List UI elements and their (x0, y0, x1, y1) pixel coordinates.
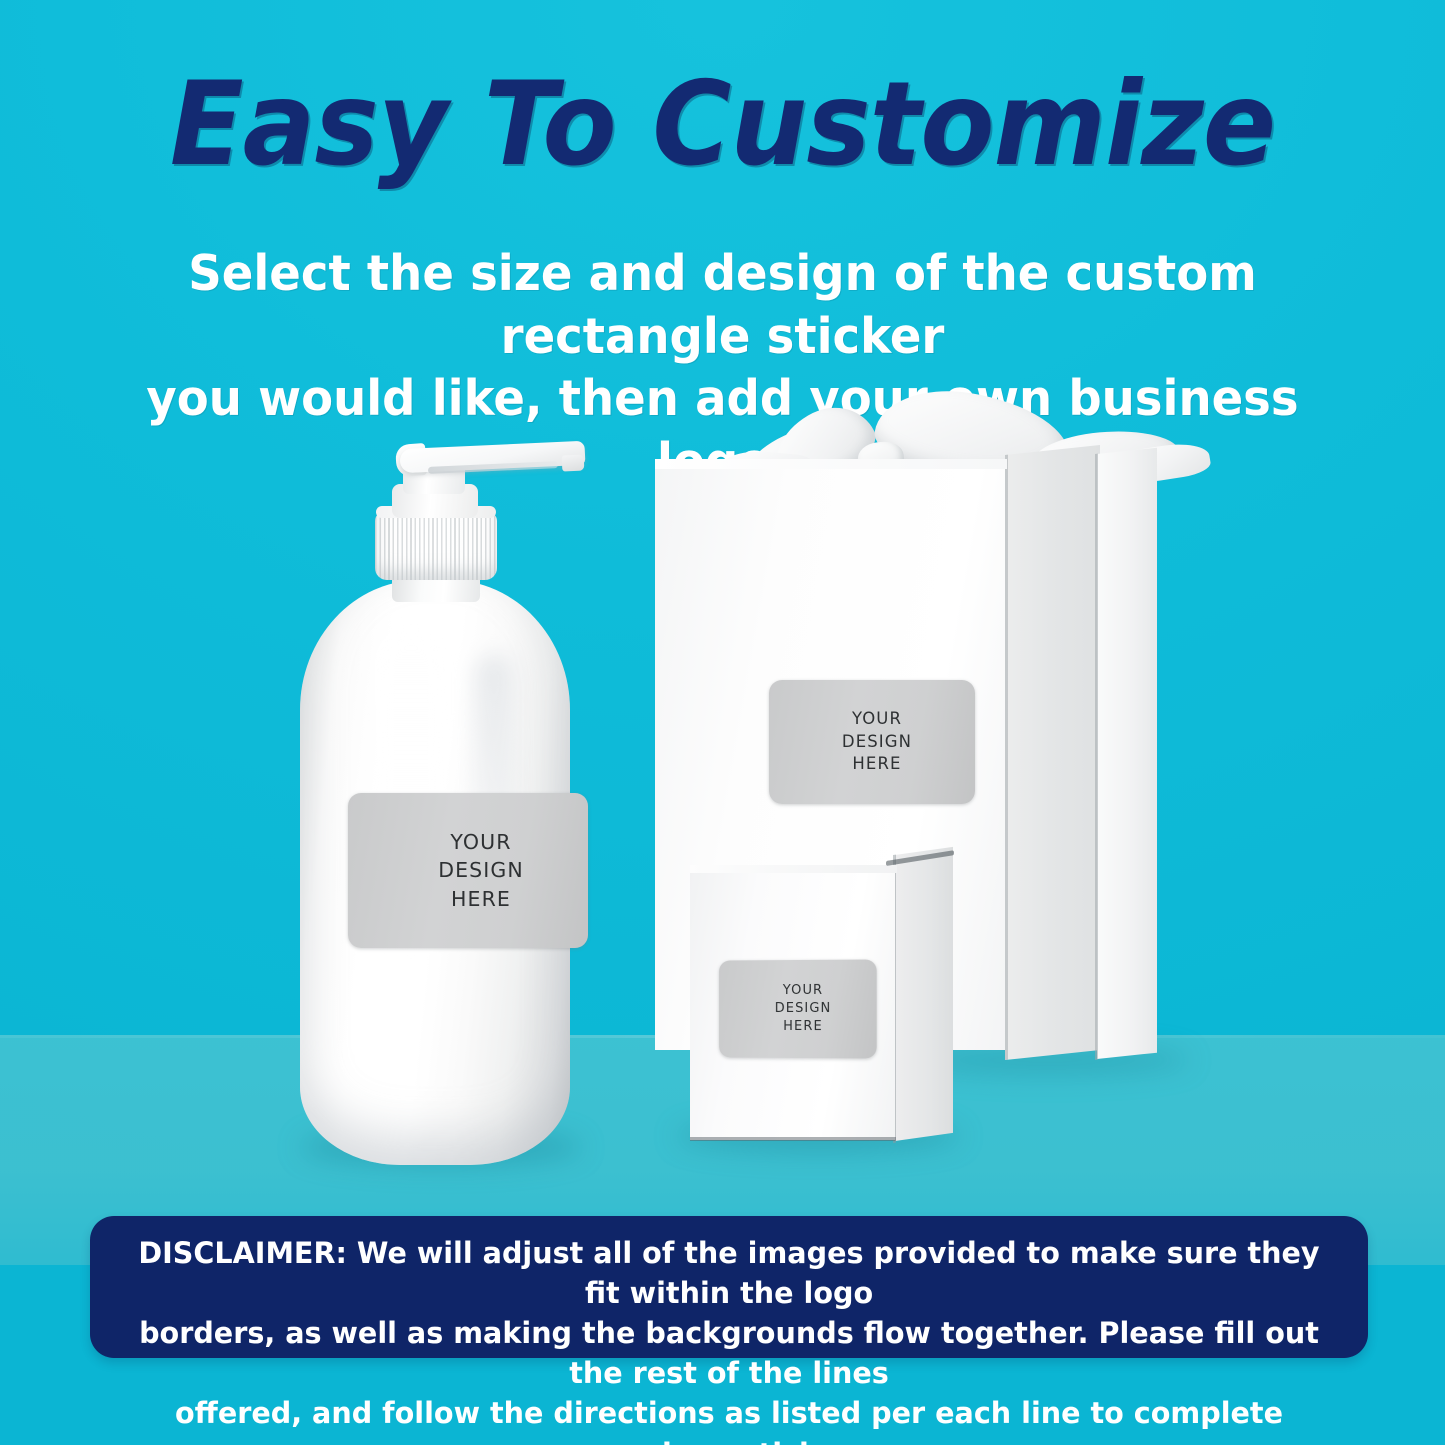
small-box-top-lip (690, 865, 897, 873)
sticker-giftbox-line-2: DESIGN (842, 731, 912, 754)
gift-box-side-panel (1005, 445, 1100, 1060)
pump-collar-ribbed (375, 512, 497, 580)
gift-box-seam-inner (1005, 455, 1008, 1060)
sticker-bottle-line-2: DESIGN (438, 856, 524, 884)
sticker-giftbox-line-3: HERE (842, 753, 912, 776)
sticker-smallbox-line-3: HERE (775, 1018, 832, 1036)
sticker-smallbox[interactable]: YOUR DESIGN HERE (719, 959, 877, 1058)
disclaimer-text: DISCLAIMER: We will adjust all of the im… (136, 1233, 1321, 1445)
disclaimer-box: DISCLAIMER: We will adjust all of the im… (90, 1216, 1368, 1358)
sticker-bottle-line-3: HERE (438, 885, 524, 913)
gift-box-seam-outer (1095, 454, 1098, 1060)
sticker-smallbox-line-1: YOUR (775, 982, 832, 1000)
disclaimer-line-1: DISCLAIMER: We will adjust all of the im… (136, 1233, 1321, 1313)
sticker-bottle-line-1: YOUR (438, 828, 524, 856)
promo-banner: Easy To Customize Select the size and de… (0, 0, 1445, 1445)
sticker-giftbox-line-1: YOUR (842, 708, 912, 731)
sticker-giftbox[interactable]: YOUR DESIGN HERE (769, 680, 975, 804)
gift-box-top-lip (655, 459, 1007, 469)
small-box-bottom-edge-shadow (690, 1137, 896, 1141)
disclaimer-label: DISCLAIMER: (138, 1236, 347, 1270)
disclaimer-line-2: borders, as well as making the backgroun… (136, 1313, 1321, 1393)
gift-box-back-panel (1097, 448, 1157, 1059)
sticker-bottle[interactable]: YOUR DESIGN HERE (348, 793, 588, 948)
disclaimer-line-1-rest: We will adjust all of the images provide… (347, 1236, 1320, 1310)
disclaimer-line-3: offered, and follow the directions as li… (136, 1393, 1321, 1445)
pump-nozzle-tip (562, 455, 585, 472)
sticker-smallbox-line-2: DESIGN (775, 1000, 832, 1018)
small-box-side-panel (895, 847, 953, 1141)
